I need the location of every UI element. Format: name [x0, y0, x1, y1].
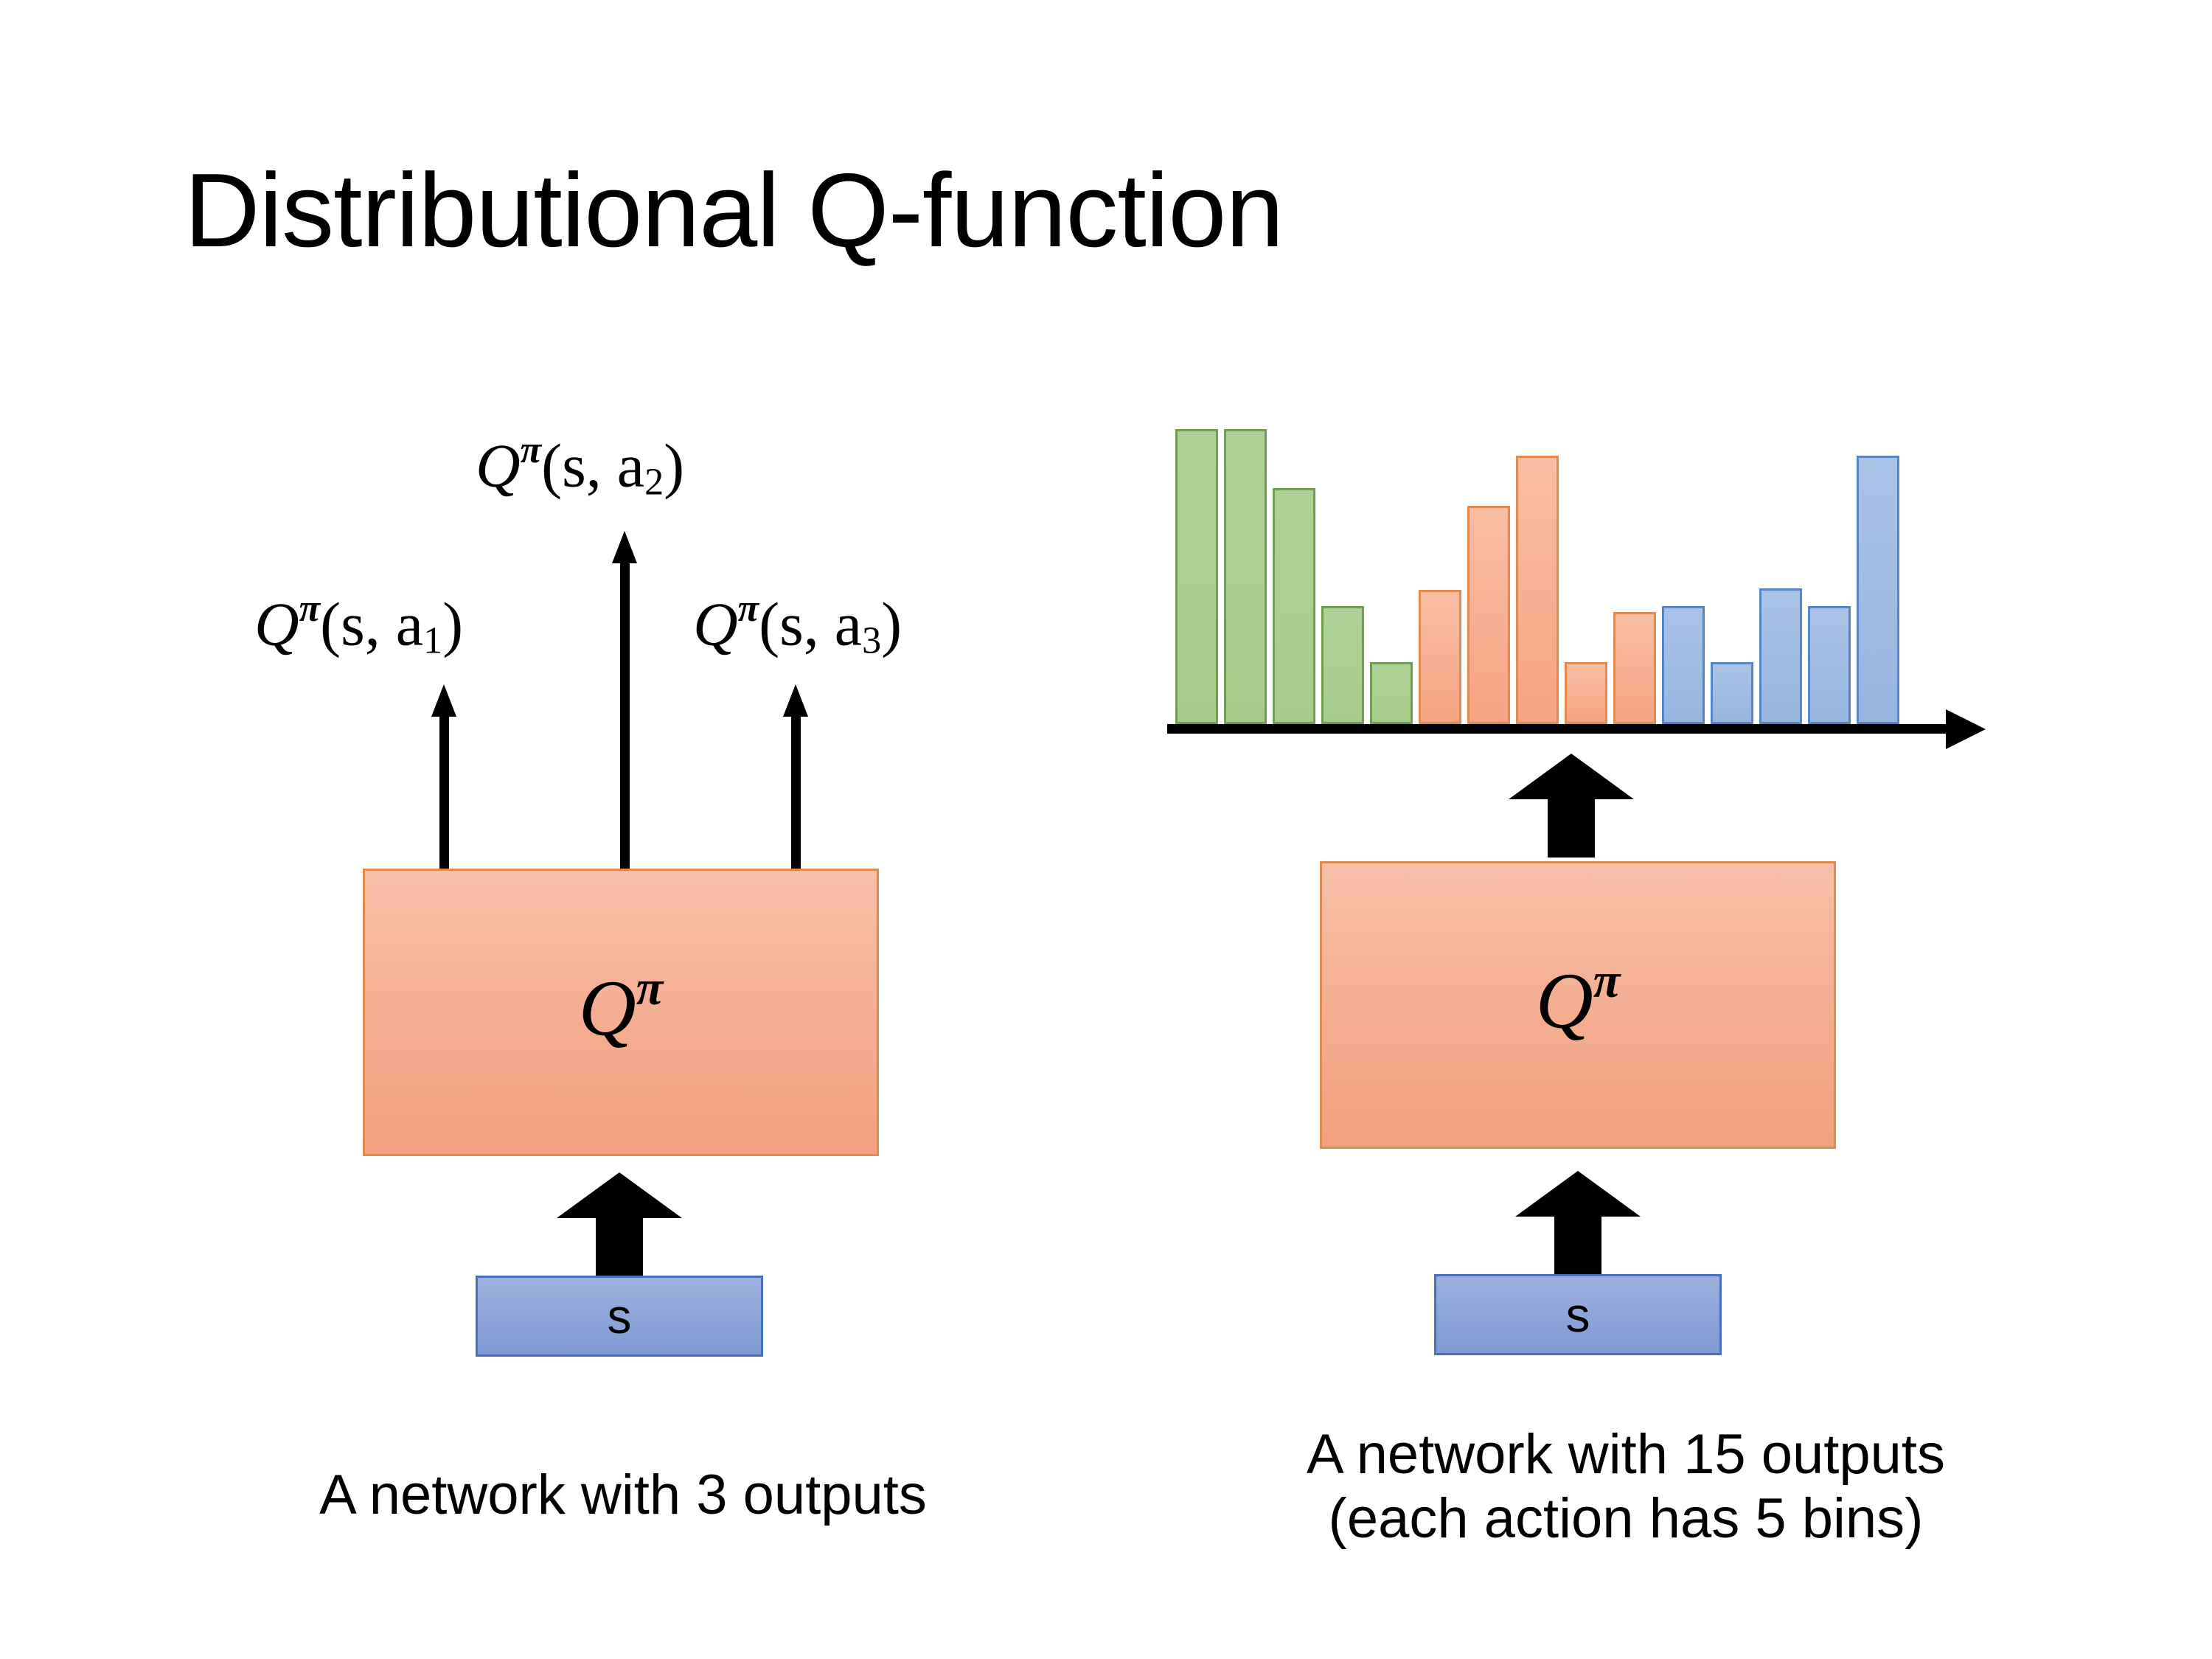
q-symbol: Q [1536, 958, 1593, 1046]
pi-superscript: π [1593, 953, 1621, 1008]
hist-bar [1419, 590, 1461, 724]
pi-superscript: π [299, 588, 320, 630]
right-output-arrow-icon [1509, 754, 1634, 857]
pi-superscript: π [521, 429, 541, 471]
axis-arrowhead-icon [1946, 709, 1986, 749]
q-close-paren: ) [664, 431, 684, 500]
output-label-q-a1: Qπ(s, a1) [254, 590, 463, 661]
arrowhead [557, 1172, 682, 1218]
arrowhead [1509, 754, 1634, 799]
arrow-shaft [439, 706, 449, 870]
hist-bar [1808, 606, 1851, 724]
slide-canvas: Distributional Q-function Qπ(s, a1) Qπ(s… [0, 0, 2212, 1659]
arrowhead [1515, 1171, 1641, 1217]
hist-bar [1321, 606, 1364, 724]
q-symbol: Q [579, 965, 636, 1053]
arrow-shaft [1554, 1216, 1601, 1278]
q-symbol: Q [254, 590, 299, 658]
hist-bar [1759, 588, 1802, 724]
output-arrow-a3-icon [783, 684, 808, 870]
arrow-shaft [620, 553, 630, 870]
hist-bar [1224, 429, 1267, 724]
left-state-box[interactable]: s [476, 1276, 763, 1357]
left-input-arrow-icon [557, 1172, 682, 1279]
histogram-x-axis [1167, 724, 1950, 734]
left-state-box-label: s [608, 1292, 632, 1340]
left-diagram-caption: A network with 3 outputs [170, 1464, 1077, 1528]
action-subscript: 2 [644, 462, 664, 504]
output-label-q-a2: Qπ(s, a2) [476, 431, 684, 502]
hist-bar [1857, 456, 1899, 724]
action-subscript: 1 [423, 620, 442, 662]
action-subscript: 3 [862, 620, 881, 662]
q-close-paren: ) [442, 590, 463, 658]
right-diagram-caption: A network with 15 outputs (each action h… [1158, 1423, 2094, 1551]
arrow-shaft [1548, 799, 1595, 858]
right-state-box[interactable]: s [1434, 1274, 1722, 1355]
histogram-bars [1175, 429, 1951, 724]
q-symbol: Q [693, 590, 738, 658]
hist-bar [1565, 662, 1607, 724]
hist-bar [1662, 606, 1705, 724]
pi-superscript: π [636, 961, 664, 1015]
distribution-histogram [1167, 424, 1978, 734]
right-network-box-label: Qπ [1536, 956, 1621, 1042]
hist-bar [1516, 456, 1559, 724]
output-arrow-a1-icon [431, 684, 456, 870]
page-title: Distributional Q-function [184, 159, 1283, 263]
pi-superscript: π [738, 588, 759, 630]
arrow-shaft [596, 1217, 643, 1279]
q-symbol: Q [476, 431, 521, 500]
hist-bar [1613, 612, 1656, 724]
output-arrow-a2-icon [612, 531, 637, 870]
hist-bar [1467, 506, 1510, 724]
output-label-q-a3: Qπ(s, a3) [693, 590, 902, 661]
q-args: (s, a [320, 590, 423, 658]
right-state-box-label: s [1566, 1290, 1590, 1339]
right-network-box[interactable]: Qπ [1320, 861, 1836, 1149]
q-args: (s, a [541, 431, 644, 500]
hist-bar [1273, 488, 1315, 724]
arrow-shaft [791, 706, 801, 870]
hist-bar [1711, 662, 1753, 724]
right-input-arrow-icon [1515, 1171, 1641, 1278]
hist-bar [1175, 429, 1218, 724]
hist-bar [1370, 662, 1413, 724]
q-args: (s, a [759, 590, 862, 658]
q-close-paren: ) [881, 590, 902, 658]
left-network-box-label: Qπ [579, 964, 664, 1049]
left-network-box[interactable]: Qπ [363, 869, 879, 1156]
